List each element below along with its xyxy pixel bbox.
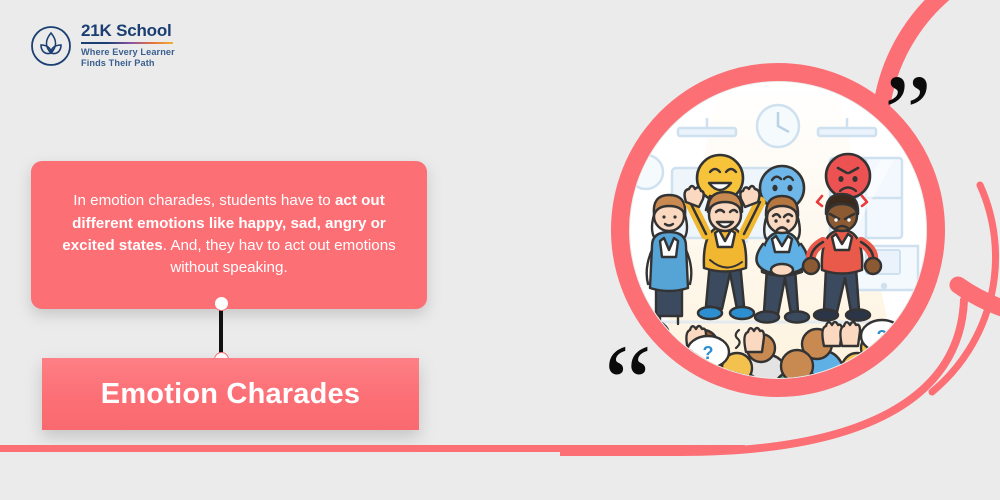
page-title: Emotion Charades <box>101 378 360 411</box>
brand-gradient-rule <box>81 42 173 44</box>
connector-dot-top <box>214 296 229 311</box>
lotus-circle-icon <box>30 25 72 67</box>
brand-name: 21K School <box>81 22 175 39</box>
brand-logo[interactable]: 21K School Where Every Learner Finds The… <box>30 22 175 70</box>
description-text: In emotion charades, students have to ac… <box>55 190 403 279</box>
brand-tagline-line1: Where Every Learner <box>81 47 175 57</box>
description-part2: . And, they hav to act out emotions with… <box>163 237 396 276</box>
description-card: In emotion charades, students have to ac… <box>31 161 427 309</box>
brand-tagline-line2: Finds Their Path <box>81 58 155 68</box>
slide-canvas: 21K School Where Every Learner Finds The… <box>0 0 1000 500</box>
brand-tagline: Where Every Learner Finds Their Path <box>81 47 175 71</box>
quote-close-icon: ” <box>884 60 932 168</box>
description-part1: In emotion charades, students have to <box>73 192 335 209</box>
title-banner: Emotion Charades <box>42 358 419 430</box>
quote-open-icon: “ <box>604 330 652 438</box>
